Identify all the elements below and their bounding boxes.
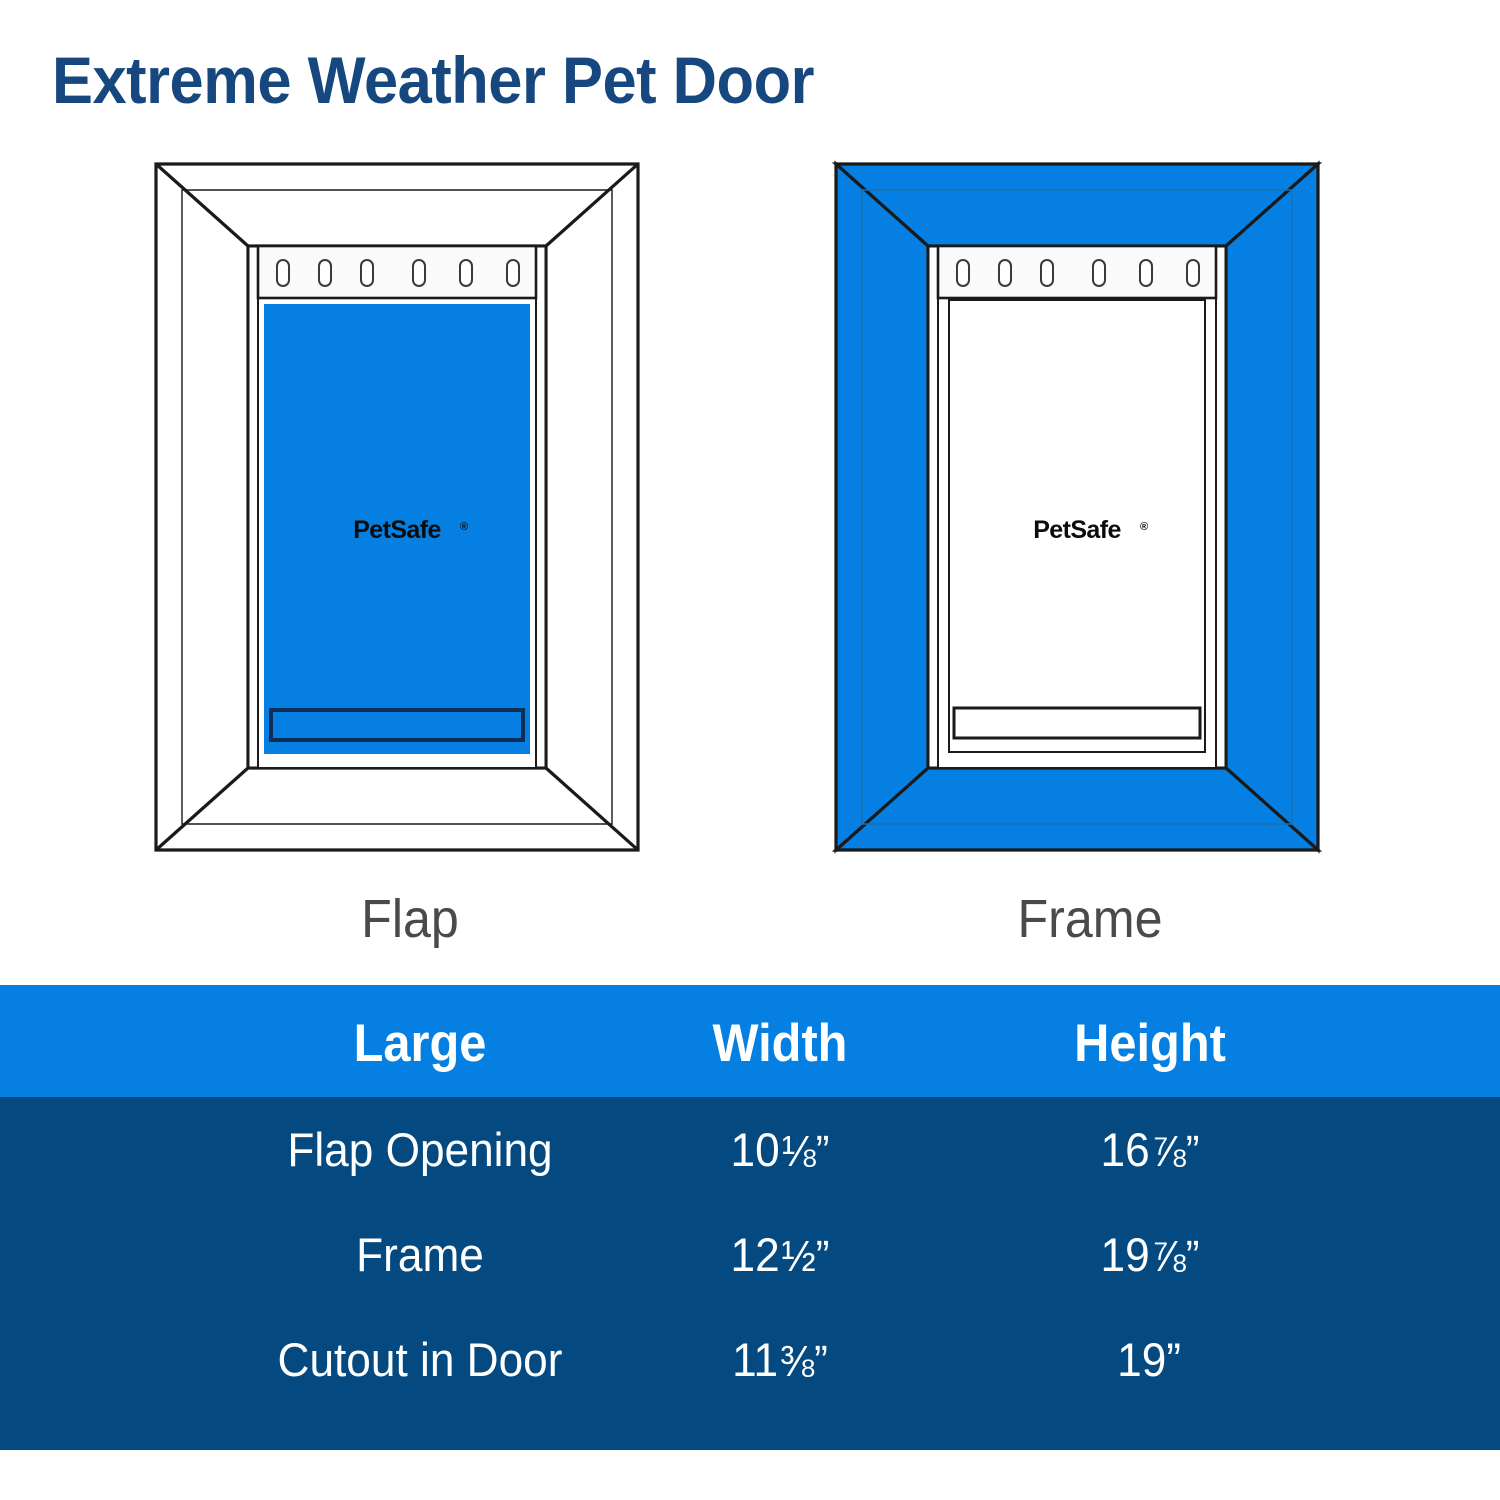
value-whole: 11 [732,1333,778,1386]
petsafe-logo-text: PetSafe [1033,516,1121,544]
row-label-frame: Frame [194,1202,645,1307]
column-header-width: Width [614,991,945,1097]
diagram-area: PetSafe ® Flap [0,150,1500,980]
row-width-flap-opening: 10⅛” [611,1097,949,1202]
row-label-cutout-in-door: Cutout in Door [194,1307,645,1412]
table-row: Cutout in Door 11⅜” 19” [0,1307,1500,1412]
row-height-frame: 19⅞” [971,1202,1328,1307]
value-whole: 12 [731,1228,780,1281]
flap-slot-icon [507,260,519,286]
flap-slot-icon [460,260,472,286]
value-fraction: ½” [780,1232,830,1281]
value-fraction: ⅞” [1150,1127,1200,1176]
flap-slot-icon [413,260,425,286]
value-whole: 19” [1117,1333,1181,1386]
flap-slot-icon [1093,260,1105,286]
value-whole: 10 [731,1123,780,1176]
flap-slot-icon [319,260,331,286]
value-fraction: ⅞” [1150,1232,1200,1281]
row-width-frame: 12½” [611,1202,949,1307]
frame-diagram: PetSafe ® Frame [810,150,1370,980]
row-height-flap-opening: 16⅞” [971,1097,1328,1202]
row-label-flap-opening: Flap Opening [194,1097,645,1202]
value-fraction: ⅜” [778,1337,828,1386]
flap-weight-bar [271,710,523,740]
value-fraction [1181,1337,1183,1386]
flap-weight-bar [954,708,1200,738]
frame-caption: Frame [830,888,1351,950]
flap-diagram: PetSafe ® Flap [130,150,690,980]
petsafe-registered-mark: ® [460,521,468,533]
flap-slot-icon [1041,260,1053,286]
flap-caption: Flap [150,888,671,950]
flap-slot-icon [957,260,969,286]
value-whole: 19 [1101,1228,1150,1281]
petsafe-registered-mark: ® [1140,521,1148,533]
flap-slot-icon [999,260,1011,286]
flap-slot-icon [1187,260,1199,286]
column-header-height: Height [975,991,1325,1097]
flap-slot-icon [361,260,373,286]
value-fraction: ⅛” [780,1127,830,1176]
column-header-size: Large [199,991,641,1097]
row-height-cutout-in-door: 19” [971,1307,1328,1412]
table-header-row: Large Width Height [0,985,1500,1097]
table-row: Flap Opening 10⅛” 16⅞” [0,1097,1500,1202]
flap-diagram-svg: PetSafe ® [130,150,690,890]
table-body: Flap Opening 10⅛” 16⅞” Frame 12½” 19⅞” C… [0,1097,1500,1450]
frame-diagram-svg: PetSafe ® [810,150,1370,890]
flap-slot-icon [277,260,289,286]
table-row: Frame 12½” 19⅞” [0,1202,1500,1307]
specifications-table: Large Width Height Flap Opening 10⅛” 16⅞… [0,985,1500,1450]
row-width-cutout-in-door: 11⅜” [611,1307,949,1412]
pet-door-inner-housing [928,246,1226,768]
petsafe-logo-text: PetSafe [353,516,441,544]
page-title: Extreme Weather Pet Door [52,42,814,118]
value-whole: 16 [1101,1123,1150,1176]
flap-slot-icon [1140,260,1152,286]
